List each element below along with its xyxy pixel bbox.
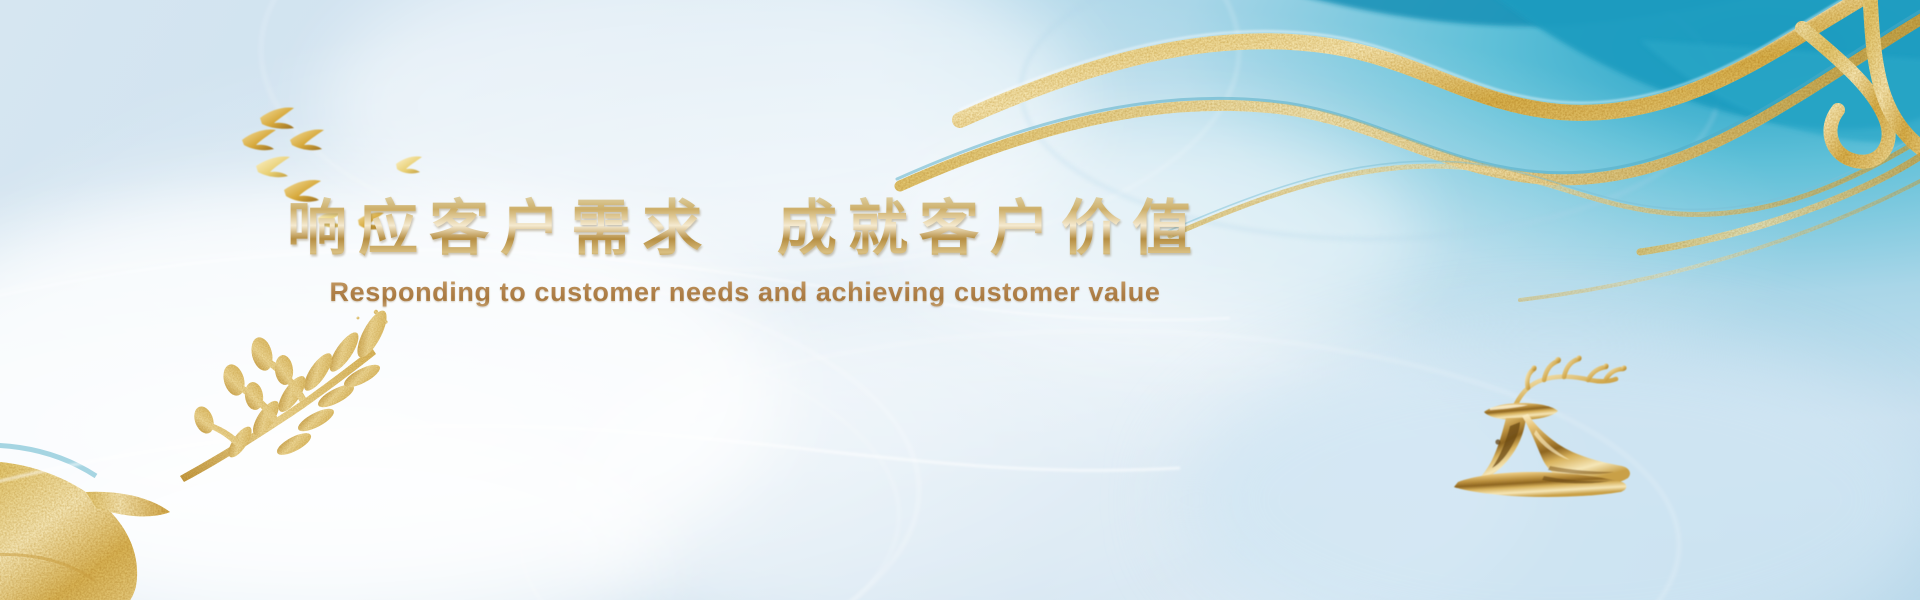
marble-contour: [0, 300, 900, 600]
banner-text-block: 响应客户需求 成就客户价值 Responding to customer nee…: [0, 196, 1490, 308]
banner-headline: 响应客户需求 成就客户价值: [0, 196, 1490, 263]
gold-deer-icon: [1440, 350, 1640, 500]
gold-branch-icon: [176, 300, 406, 490]
marble-banner: 响应客户需求 成就客户价值 Responding to customer nee…: [0, 0, 1920, 600]
banner-subheadline: Responding to customer needs and achievi…: [0, 277, 1490, 308]
marble-swirl: [560, 300, 1540, 600]
